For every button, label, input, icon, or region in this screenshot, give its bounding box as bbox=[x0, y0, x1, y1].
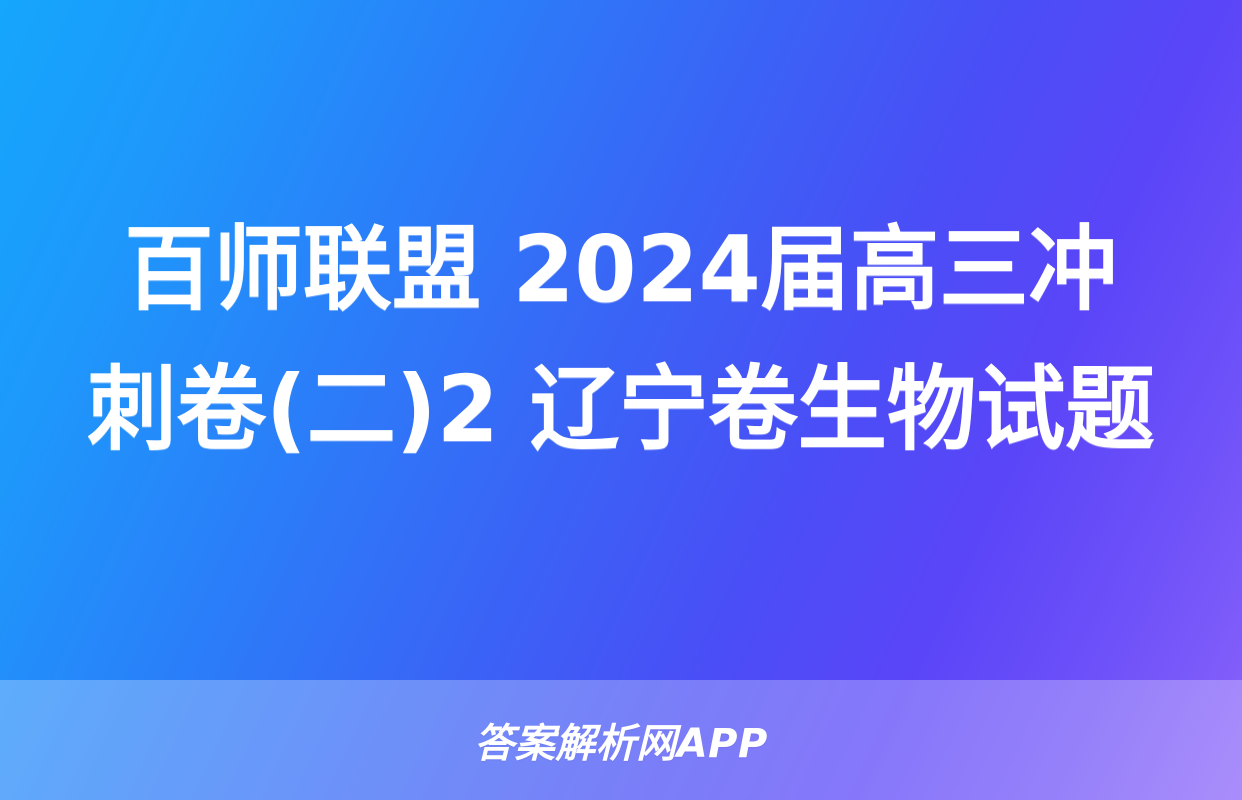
page-title: 百师联盟 2024届高三冲刺卷(二)2 辽宁卷生物试题 bbox=[87, 200, 1156, 480]
title-block: 百师联盟 2024届高三冲刺卷(二)2 辽宁卷生物试题 bbox=[0, 0, 1242, 680]
app-watermark-label: 答案解析网APP bbox=[474, 711, 768, 769]
poster-canvas: 百师联盟 2024届高三冲刺卷(二)2 辽宁卷生物试题 答案解析网APP bbox=[0, 0, 1242, 800]
footer-watermark: 答案解析网APP bbox=[0, 680, 1242, 800]
